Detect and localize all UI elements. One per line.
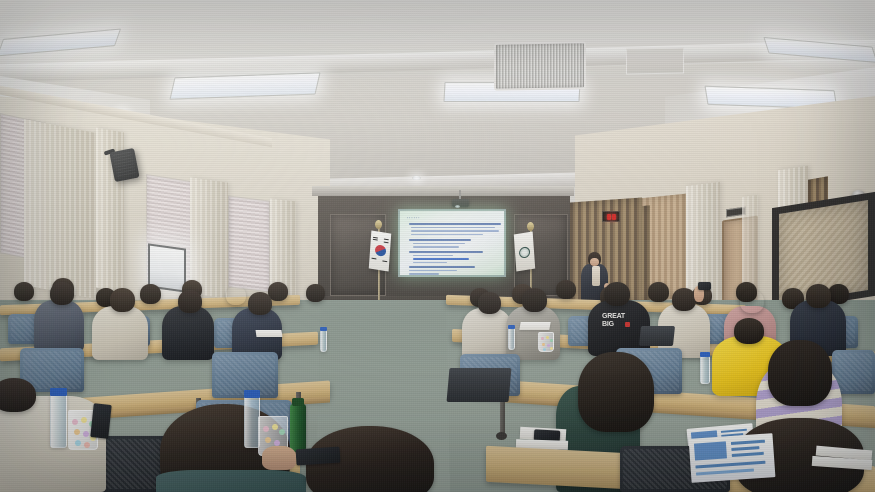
ceiling-downlight-7	[412, 176, 421, 180]
lecture-hall-photo: · · · · · ·	[0, 0, 875, 492]
booklet-content-bar	[695, 461, 765, 469]
trigram-icon	[371, 258, 376, 260]
audience-head	[672, 288, 696, 311]
laptop[interactable]	[639, 326, 675, 346]
audience-head	[226, 286, 246, 305]
paper-handout[interactable]	[519, 322, 550, 330]
bottle-cap	[320, 327, 327, 331]
slide-body-line	[409, 273, 439, 275]
jacket-print-line2: BIG	[602, 321, 614, 328]
slide-body-line	[413, 255, 453, 257]
audience-head	[140, 284, 161, 304]
candy	[83, 431, 89, 437]
booklet-content-bar	[731, 446, 759, 451]
audience-head	[248, 292, 272, 315]
trigram-icon	[384, 239, 389, 241]
attendee-light-top	[462, 308, 512, 360]
audience-head	[178, 290, 202, 313]
jacket-print-mark	[625, 322, 630, 327]
bottle-cap	[508, 325, 515, 329]
candy	[543, 348, 546, 351]
laptop[interactable]	[447, 368, 512, 402]
candy	[279, 429, 285, 435]
slide-body-line	[411, 227, 495, 229]
candy	[81, 417, 87, 423]
wall-pillar-left-1	[24, 119, 96, 299]
projection-screen: · · · · · ·	[400, 211, 504, 275]
audience-head	[0, 378, 36, 412]
paper-handout[interactable]	[256, 330, 283, 337]
audience-head	[648, 282, 669, 302]
projector-lens-icon	[455, 205, 460, 208]
smartphone[interactable]	[90, 403, 111, 439]
slide-body-line	[413, 243, 465, 245]
bottle-cap	[292, 398, 304, 406]
front-wall-ledge	[312, 186, 574, 196]
audience-head	[522, 288, 547, 312]
booklet-content-bar	[694, 441, 727, 460]
slide-body-line	[409, 266, 475, 268]
slide-body-line	[411, 234, 483, 236]
slide-body-line	[413, 258, 469, 260]
slide-body-line	[409, 270, 457, 272]
candy	[263, 426, 269, 432]
green-bottle[interactable]	[290, 404, 306, 452]
trigram-icon	[384, 241, 389, 243]
korean-national-flag	[369, 230, 391, 271]
audience-head	[306, 284, 325, 302]
slide-body-line	[413, 262, 447, 264]
audience-head	[734, 318, 764, 344]
led-digit-2	[612, 214, 616, 220]
candy	[542, 343, 545, 346]
bottle-cap	[244, 390, 260, 398]
water-bottle[interactable]	[50, 394, 67, 448]
audience-head	[110, 288, 135, 312]
presenter-face	[590, 258, 599, 266]
led-digit-1	[607, 214, 611, 220]
attendee-grey-suit	[34, 300, 84, 352]
open-booklet[interactable]	[689, 433, 776, 483]
audience-head	[478, 292, 501, 314]
bottle-cap	[700, 352, 710, 357]
smartphone[interactable]	[295, 446, 340, 465]
candy	[550, 339, 553, 342]
trigram-icon	[373, 239, 378, 241]
slide-body-line	[413, 246, 459, 248]
booklet-content-bar	[731, 440, 765, 445]
water-bottle[interactable]	[320, 330, 327, 352]
presenter-shirt	[592, 266, 600, 286]
hvac-vent-grille	[494, 41, 586, 91]
desk-caster	[496, 432, 507, 440]
audience-head	[14, 282, 34, 301]
candy	[72, 419, 78, 425]
candy-jar[interactable]	[538, 332, 554, 352]
wall-speaker	[109, 148, 139, 182]
booklet-content-bar	[732, 452, 764, 457]
taeguk-symbol	[375, 244, 387, 257]
korean-flag-finial	[375, 220, 382, 229]
booklet-content-bar	[696, 469, 754, 476]
audience-head	[556, 280, 576, 299]
ceiling-access-panel	[626, 47, 684, 74]
attendee-teal-foreground	[156, 470, 306, 492]
audience-head	[768, 340, 832, 406]
candy	[74, 429, 80, 435]
water-bottle[interactable]	[508, 328, 515, 350]
candy	[75, 440, 81, 446]
institutional-flag	[514, 232, 535, 272]
slide-body-line	[409, 239, 471, 241]
candy	[550, 347, 553, 350]
trigram-icon	[382, 260, 387, 262]
slide-body-line	[411, 230, 499, 232]
smartphone[interactable]	[698, 282, 711, 290]
bottle-cap	[50, 388, 67, 396]
audience-head	[50, 282, 74, 305]
slide-title: · · · · · ·	[407, 216, 420, 220]
audience-head	[806, 284, 831, 308]
audience-head	[740, 290, 764, 313]
attendee-beige-coat	[92, 306, 148, 360]
attendee-dark-jacket	[162, 306, 214, 360]
candy	[541, 337, 544, 340]
window-blinds-left-3	[228, 195, 270, 292]
candy	[84, 442, 90, 448]
institutional-flag-finial	[527, 222, 534, 231]
projection-screen-frame: · · · · · ·	[398, 209, 506, 277]
candy	[272, 424, 278, 430]
audience-head	[578, 352, 654, 432]
audience-head	[604, 282, 630, 306]
hand-holding-phone	[262, 446, 296, 470]
slide-body-line	[409, 251, 483, 253]
institution-emblem-icon	[519, 246, 531, 259]
slide-body-line	[409, 223, 501, 225]
candy	[546, 336, 549, 339]
water-bottle[interactable]	[700, 356, 710, 384]
led-wall-clock	[602, 211, 620, 222]
jacket-print-line1: GREAT	[602, 313, 625, 320]
candy	[265, 437, 271, 443]
